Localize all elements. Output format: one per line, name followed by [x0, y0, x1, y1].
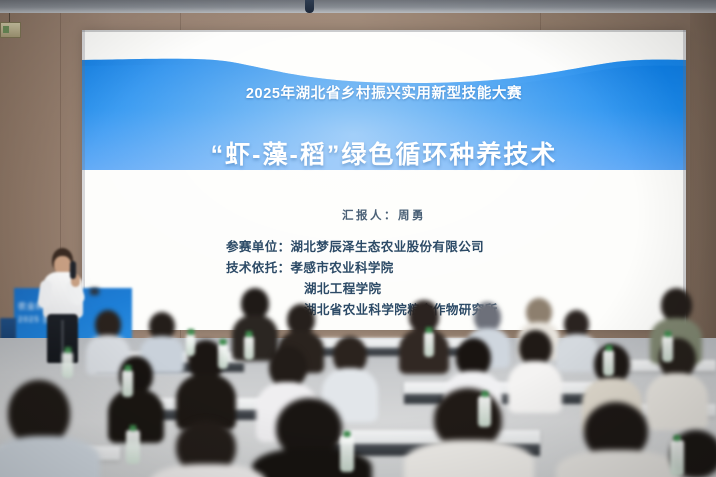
water-bottle	[603, 350, 614, 376]
projector-mount	[305, 0, 314, 13]
slide-subtitle: 2025年湖北省乡村振兴实用新型技能大赛	[82, 82, 686, 103]
audience-member	[0, 380, 100, 477]
slide-body-line: 参赛单位：湖北梦辰泽生态农业股份有限公司	[82, 237, 686, 258]
water-bottle	[340, 436, 354, 472]
water-bottle	[424, 332, 434, 357]
conference-room-photo: 2025年湖北省乡村振兴实用新型技能大赛 “虾-藻-稻”绿色循环种养技术 汇报人…	[0, 0, 716, 477]
projection-screen: 2025年湖北省乡村振兴实用新型技能大赛 “虾-藻-稻”绿色循环种养技术 汇报人…	[82, 30, 686, 330]
screen-edge	[683, 30, 686, 330]
water-bottle	[478, 396, 491, 427]
water-bottle	[662, 336, 673, 362]
ceiling-strip	[0, 0, 716, 13]
slide-body: 汇报人：周勇 参赛单位：湖北梦辰泽生态农业股份有限公司 技术依托：孝感市农业科学…	[82, 206, 686, 321]
slide-title: “虾-藻-稻”绿色循环种养技术	[82, 135, 686, 171]
screen-edge	[82, 30, 686, 32]
water-bottle	[122, 370, 133, 397]
water-bottle	[218, 344, 228, 369]
water-bottle	[126, 430, 140, 464]
water-bottle	[186, 334, 195, 356]
water-bottle	[244, 336, 254, 360]
presenter-clicker	[90, 288, 99, 295]
wall-sign-icon	[0, 22, 21, 38]
water-bottle	[670, 440, 684, 476]
audience-member	[150, 420, 266, 477]
audience-member	[404, 388, 534, 477]
audience-member	[252, 398, 372, 477]
slide-body-line: 技术依托：孝感市农业科学院	[82, 258, 686, 279]
audience-member	[660, 430, 716, 477]
slide-presenter: 汇报人：周勇	[82, 206, 686, 227]
water-bottle	[62, 352, 73, 378]
slide-body-line: 湖北工程学院	[82, 279, 686, 300]
